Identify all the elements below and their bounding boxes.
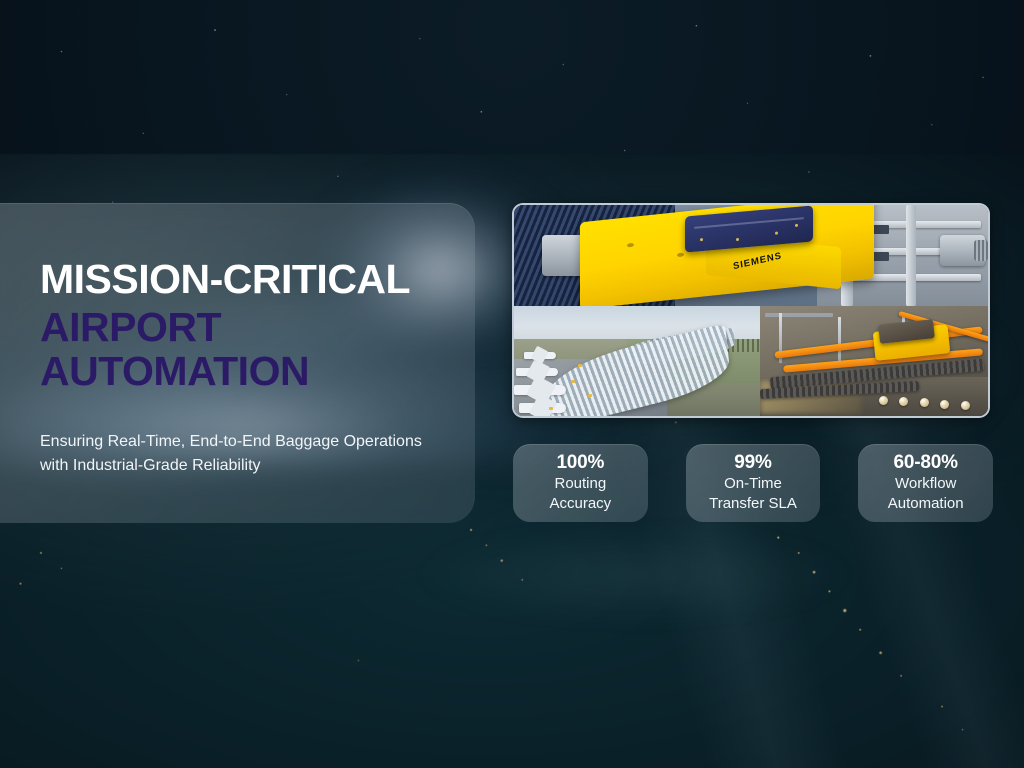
stat-label-line-1: On-Time xyxy=(724,474,782,494)
stat-label-line-2: Transfer SLA xyxy=(709,494,797,514)
suitcase-stud xyxy=(774,231,777,234)
support-column xyxy=(906,205,916,306)
service-vehicle xyxy=(549,407,553,410)
suitcase-stud xyxy=(795,224,798,227)
headline-glass-panel: MISSION-CRITICAL AIRPORT AUTOMATION Ensu… xyxy=(0,203,475,523)
overhead-frame xyxy=(765,313,833,317)
parked-aircraft xyxy=(524,352,556,359)
headline-line-3: AUTOMATION xyxy=(40,351,451,393)
tray-hole xyxy=(627,243,634,248)
headline-line-2: AIRPORT xyxy=(40,307,451,349)
stat-card-routing-accuracy[interactable]: 100% Routing Accuracy xyxy=(513,444,648,522)
drive-motor xyxy=(940,235,984,265)
support-post xyxy=(838,317,841,365)
stat-label-line-1: Routing xyxy=(554,474,606,494)
stat-value: 60-80% xyxy=(894,452,958,474)
stat-value: 100% xyxy=(556,452,604,474)
conveyor-roller xyxy=(961,401,970,410)
stat-label-line-1: Workflow xyxy=(895,474,956,494)
image-collage: SIEMENS xyxy=(512,203,990,418)
page-title: MISSION-CRITICAL AIRPORT AUTOMATION xyxy=(40,259,451,392)
suitcase-stud xyxy=(736,237,739,240)
service-vehicle xyxy=(571,380,575,383)
conveyor-roller xyxy=(879,396,888,405)
conveyor-roller xyxy=(940,400,949,409)
tray-hole xyxy=(677,252,684,257)
suitcase-stud xyxy=(700,238,703,241)
subheadline-text: Ensuring Real-Time, End-to-End Baggage O… xyxy=(40,430,440,476)
collage-image-airport-terminal-aerial xyxy=(514,306,760,416)
stat-card-on-time-transfer-sla[interactable]: 99% On-Time Transfer SLA xyxy=(686,444,821,522)
collage-image-siemens-tilt-tray-sorter: SIEMENS xyxy=(514,205,988,306)
collage-image-conveyor-baggage-line xyxy=(760,306,988,416)
stat-label-line-2: Accuracy xyxy=(549,494,611,514)
stat-card-workflow-automation[interactable]: 60-80% Workflow Automation xyxy=(858,444,993,522)
slide-canvas: MISSION-CRITICAL AIRPORT AUTOMATION Ensu… xyxy=(0,0,1024,768)
stat-value: 99% xyxy=(734,452,771,474)
headline-line-1: MISSION-CRITICAL xyxy=(40,259,451,301)
parked-aircraft xyxy=(519,403,566,413)
stat-label-line-2: Automation xyxy=(888,494,964,514)
service-vehicle xyxy=(588,394,592,397)
stat-card-row: 100% Routing Accuracy 99% On-Time Transf… xyxy=(513,444,993,522)
